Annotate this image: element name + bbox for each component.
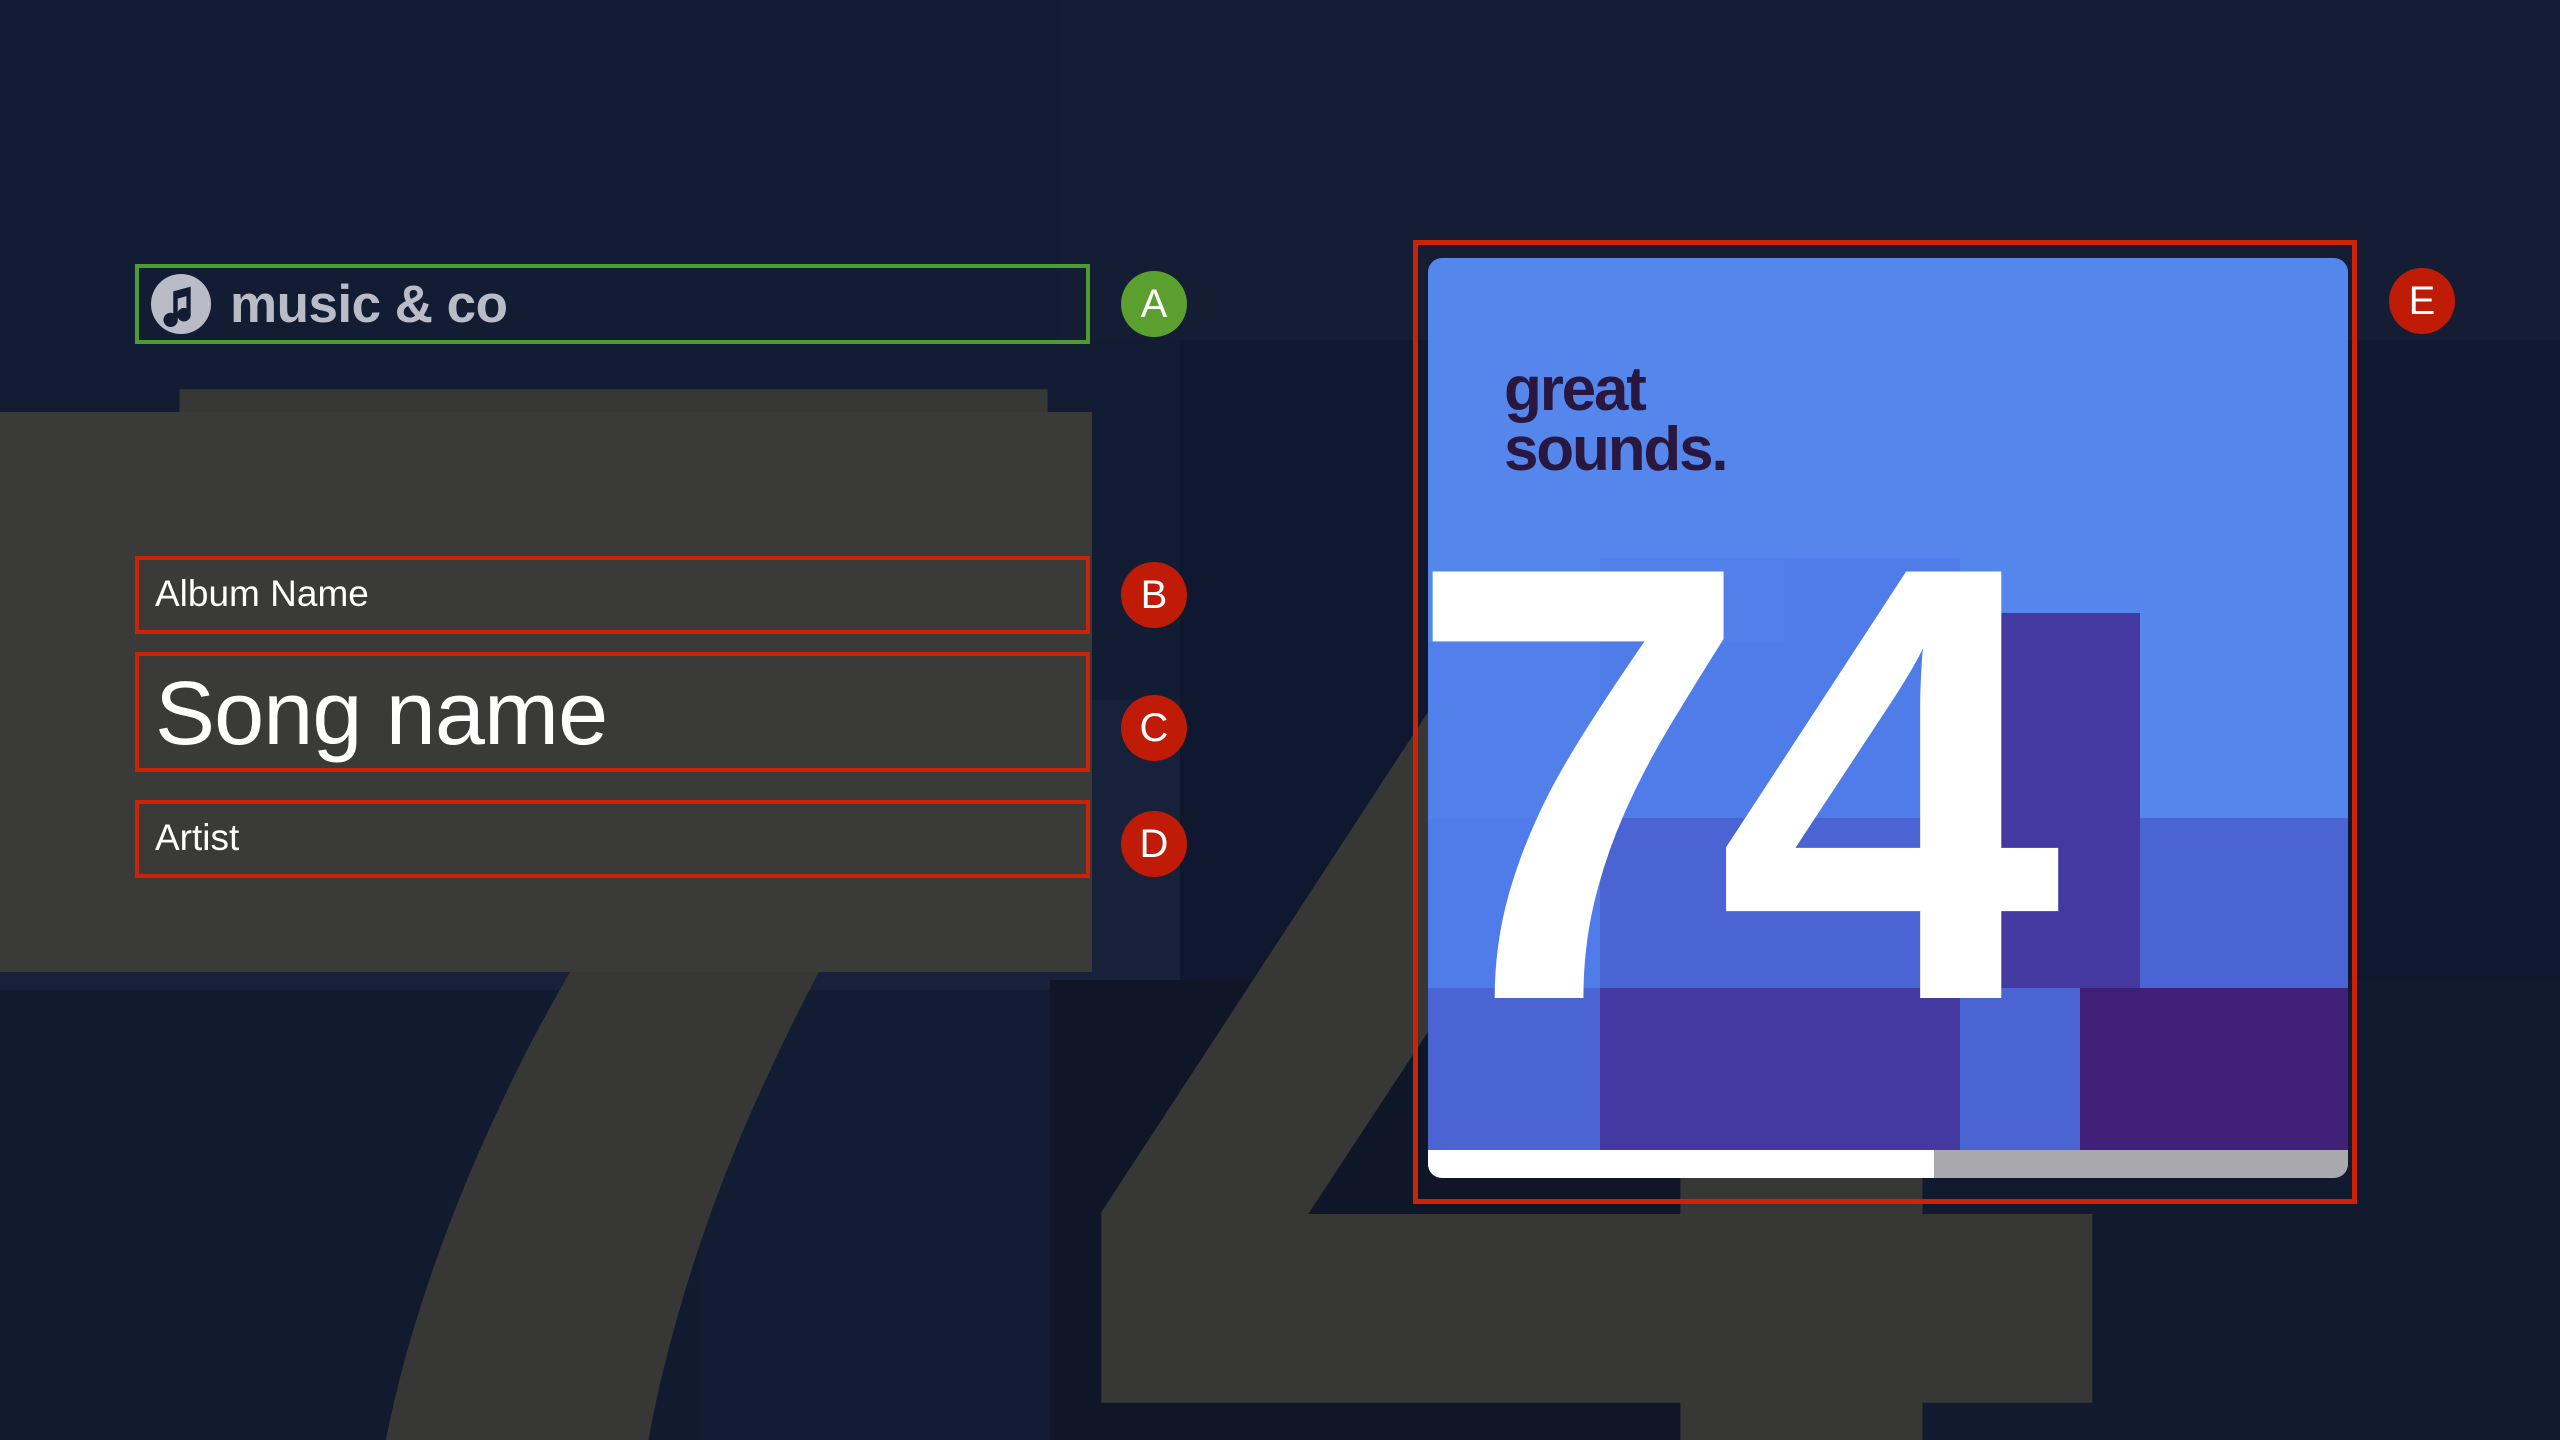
annotation-badge-c: C: [1121, 695, 1187, 761]
highlight-box-brand: [135, 264, 1090, 344]
annotation-badge-b: B: [1121, 562, 1187, 628]
highlight-box-song-name[interactable]: [135, 652, 1090, 772]
highlight-box-album-name[interactable]: [135, 556, 1090, 634]
highlight-box-album-art: [1413, 240, 2357, 1204]
annotation-badge-a: A: [1121, 271, 1187, 337]
highlight-box-artist[interactable]: [135, 800, 1090, 878]
annotation-badge-e: E: [2389, 268, 2455, 334]
left-column: music & co Album Name Song name Artist: [0, 0, 1250, 1440]
annotation-badge-d: D: [1121, 811, 1187, 877]
